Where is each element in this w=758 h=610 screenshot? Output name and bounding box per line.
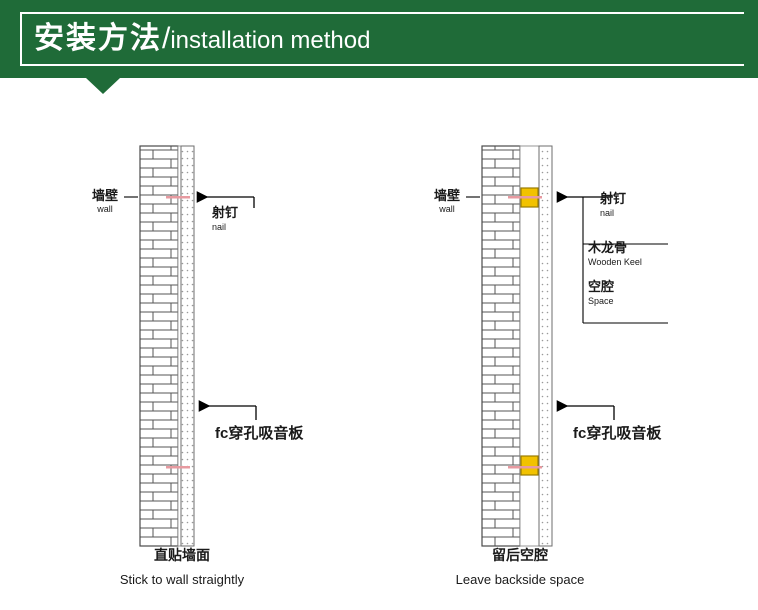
nail-label-en-left: nail xyxy=(212,222,226,232)
nail-marker-left-top xyxy=(166,196,190,199)
figure-stick-to-wall: 墙壁 wall 射钉 nail fc穿孔吸音板 直贴墙面 Stick to wa… xyxy=(92,146,304,587)
panel-label-left: fc穿孔吸音板 xyxy=(215,424,304,442)
nail-label-cn-right: 射钉 xyxy=(599,191,626,206)
installation-diagram: 墙壁 wall 射钉 nail fc穿孔吸音板 直贴墙面 Stick to wa… xyxy=(0,78,758,610)
nail-label-cn-left: 射钉 xyxy=(211,205,238,220)
nail-marker-left-bottom xyxy=(166,466,190,469)
wall-label-cn-right: 墙壁 xyxy=(434,188,460,203)
wall-label-en-right: wall xyxy=(438,204,455,214)
caption-cn-left: 直贴墙面 xyxy=(154,547,210,563)
wall-brick-left xyxy=(140,146,178,546)
header-banner: 安装方法/installation method xyxy=(0,0,758,78)
keel-label-cn-right: 木龙骨 xyxy=(587,240,627,255)
caption-cn-right: 留后空腔 xyxy=(492,547,548,563)
page-title-cn: 安装方法 xyxy=(34,22,162,55)
figure-leave-backside-space: 墙壁 wall 射钉 nail 木龙骨 Wooden Keel 空腔 Space… xyxy=(434,146,668,587)
page-title: 安装方法/installation method xyxy=(34,18,370,60)
panel-label-right: fc穿孔吸音板 xyxy=(573,424,662,442)
wall-label-en-left: wall xyxy=(96,204,113,214)
diagram-svg: 墙壁 wall 射钉 nail fc穿孔吸音板 直贴墙面 Stick to wa… xyxy=(0,78,758,610)
nail-marker-right-bottom xyxy=(508,466,542,469)
acoustic-panel-left xyxy=(181,146,194,546)
acoustic-panel-right xyxy=(539,146,552,546)
wall-label-cn-left: 墙壁 xyxy=(92,188,118,203)
space-label-cn-right: 空腔 xyxy=(588,279,614,294)
wooden-keel-bottom xyxy=(521,456,538,475)
wall-brick-right xyxy=(482,146,520,546)
space-label-en-right: Space xyxy=(588,296,614,306)
keel-label-en-right: Wooden Keel xyxy=(588,257,642,267)
caption-en-left: Stick to wall straightly xyxy=(120,572,245,587)
nail-marker-right-top xyxy=(508,196,542,199)
caption-en-right: Leave backside space xyxy=(456,572,585,587)
nail-label-en-right: nail xyxy=(600,208,614,218)
page-title-en: installation method xyxy=(170,27,370,54)
